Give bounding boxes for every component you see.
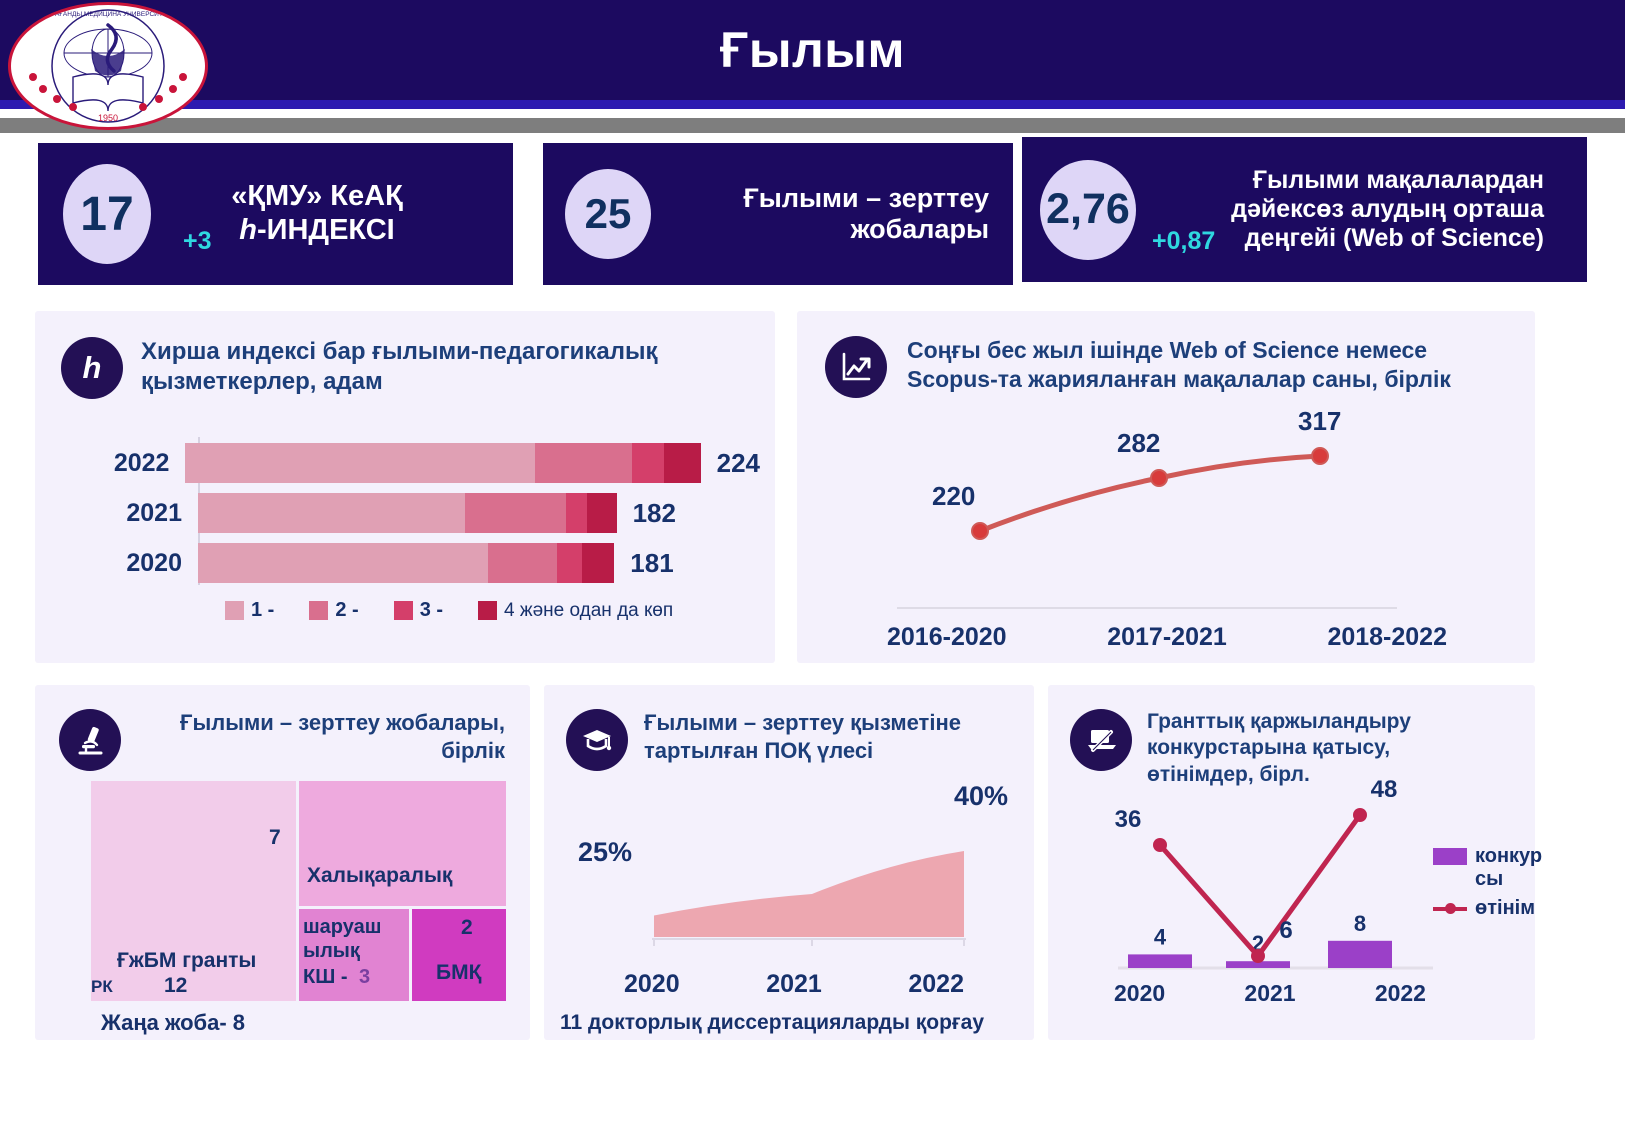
legend-label: 1 -	[251, 599, 274, 622]
treemap-label-gzbm: ҒжБМ гранты	[117, 949, 256, 973]
bar-segment	[582, 543, 614, 583]
graduation-cap-icon	[566, 709, 628, 771]
bar-track	[198, 543, 614, 583]
treemap-label-economic-2: ылық	[303, 940, 360, 963]
kpi-label-h-index: «ҚМУ» КеАҚ h-ИНДЕКСІ	[167, 180, 467, 247]
panel-grant-competitions: Гранттық қаржыландыру конкурстарына қаты…	[1048, 685, 1535, 1040]
legend-label: 3 -	[420, 599, 443, 622]
svg-text:ҚАРАҒАНДЫ МЕДИЦИНА УНИВЕРСИТЕТ: ҚАРАҒАНДЫ МЕДИЦИНА УНИВЕРСИТЕТІ	[43, 11, 173, 18]
legend-swatch-line	[1433, 907, 1467, 911]
combo-bar	[1328, 941, 1392, 968]
legend-item: 4 және одан да көп	[478, 600, 673, 622]
panel-title-research-projects: Ғылыми – зерттеу жобалары, бірлік	[137, 709, 505, 764]
bar-segment	[587, 493, 617, 533]
panel-research-projects: Ғылыми – зерттеу жобалары, бірлік ҒжБМ г…	[35, 685, 530, 1040]
legend-item: 3 -	[394, 599, 443, 622]
line-chart-x-labels: 2016-20202017-20212018-2022	[887, 623, 1447, 652]
panel-header: Ғылыми – зерттеу жобалары, бірлік	[35, 685, 530, 771]
bar-track	[198, 493, 617, 533]
legend-swatch	[394, 601, 413, 620]
bar-segment	[465, 493, 566, 533]
kpi-delta-citations: +0,87	[1152, 227, 1215, 256]
line-chart-axis	[897, 607, 1397, 609]
legend-item-applications: өтінім	[1433, 897, 1533, 920]
treemap-value-economic: 3	[359, 966, 370, 989]
kpi-h-symbol: h	[239, 214, 257, 246]
kpi-value-citations: 2,76	[1040, 160, 1136, 260]
kpi-delta-h-index: +3	[183, 227, 212, 256]
h-icon: h	[61, 337, 123, 399]
treemap-chart: ҒжБМ грантыРК127ХалықаралықшаруашылықКШ …	[91, 781, 506, 1001]
x-axis-label: 2016-2020	[887, 623, 1007, 652]
line-marker	[972, 523, 988, 539]
slide-root: Ғылым 1950 ҚАРАҒАНДЫ МЕДИЦИНА УНИВЕРСИТЕ…	[0, 0, 1625, 1125]
area-path	[654, 851, 964, 937]
bar-chart: 202222420211822020181	[110, 439, 760, 589]
bar-year-label: 2022	[110, 449, 185, 478]
kpi-label-line1: «ҚМУ» КеАҚ	[167, 180, 467, 214]
bar-total-label: 224	[717, 448, 760, 479]
area-end-label: 40%	[954, 781, 1008, 812]
panel-title-h-index-staff: Хирша индексі бар ғылыми-педагогикалық қ…	[141, 337, 701, 397]
line-point-label: 282	[1117, 428, 1160, 458]
legend-item: 2 -	[309, 599, 358, 622]
x-axis-label: 2021	[1244, 980, 1295, 1007]
combo-bar-label: 4	[1154, 924, 1167, 949]
legend-swatch-bar	[1433, 848, 1467, 865]
treemap-value-international: 7	[269, 826, 281, 850]
combo-bar	[1128, 954, 1192, 968]
combo-line-marker	[1353, 808, 1367, 822]
treemap-caption: Жаңа жоба- 8	[101, 1010, 245, 1036]
line-marker	[1151, 470, 1167, 486]
treemap-cell[interactable]	[412, 909, 506, 1001]
x-axis-label: 2020	[1114, 980, 1165, 1007]
kpi-label-line2: h-ИНДЕКСІ	[167, 214, 467, 248]
panel-header: Соңғы бес жыл ішінде Web of Science неме…	[797, 311, 1535, 398]
panel-title-grant-competitions: Гранттық қаржыландыру конкурстарына қаты…	[1147, 709, 1477, 788]
combo-bar-label: 8	[1354, 911, 1366, 936]
bar-total-label: 181	[630, 548, 673, 579]
panel-title-staff-share: Ғылыми – зерттеу қызметіне тартылған ПОҚ…	[644, 709, 1014, 764]
combo-line-label: 36	[1115, 806, 1142, 833]
panel-header: h Хирша индексі бар ғылыми-педагогикалық…	[35, 311, 775, 399]
svg-text:1950: 1950	[98, 113, 118, 123]
area-chart	[544, 785, 1034, 975]
line-point-label: 317	[1298, 406, 1341, 436]
kpi-card-h-index[interactable]: 17 «ҚМУ» КеАҚ h-ИНДЕКСІ +3	[38, 143, 513, 285]
laptop-pen-icon	[1070, 709, 1132, 771]
kpi-card-projects[interactable]: 25 Ғылыми – зерттеу жобалары	[543, 143, 1013, 285]
treemap-label-economic-1: шаруаш	[303, 916, 381, 939]
header-accent-rule	[0, 100, 1625, 109]
treemap-label-international: Халықаралық	[307, 864, 452, 888]
legend-swatch	[478, 601, 497, 620]
microscope-icon	[59, 709, 121, 771]
line-path	[980, 456, 1320, 531]
x-axis-label: 2022	[1375, 980, 1426, 1007]
area-start-label: 25%	[578, 837, 632, 868]
panel-header: Гранттық қаржыландыру конкурстарына қаты…	[1048, 685, 1535, 788]
kpi-card-citations[interactable]: 2,76 Ғылыми мақалалардан дәйексөз алудың…	[1022, 137, 1587, 282]
panel-header: Ғылыми – зерттеу қызметіне тартылған ПОҚ…	[544, 685, 1034, 771]
treemap-value-gzbm: 12	[164, 974, 187, 998]
panel-staff-share: Ғылыми – зерттеу қызметіне тартылған ПОҚ…	[544, 685, 1034, 1040]
legend-swatch	[309, 601, 328, 620]
treemap-label-bmq: БМҚ	[436, 961, 481, 985]
x-axis-label: 2020	[624, 970, 680, 999]
x-axis-label: 2017-2021	[1107, 623, 1227, 652]
combo-chart-x-labels: 202020212022	[1114, 980, 1426, 1007]
x-axis-label: 2018-2022	[1327, 623, 1447, 652]
legend-label-applications: өтінім	[1475, 897, 1535, 920]
chart-up-icon	[825, 336, 887, 398]
legend-item-competitions: конкур	[1433, 845, 1533, 868]
bar-segment	[198, 493, 465, 533]
combo-line-marker	[1251, 949, 1265, 963]
legend-label: 4 және одан да көп	[504, 600, 673, 622]
legend-label: 2 -	[335, 599, 358, 622]
kpi-index-word: -ИНДЕКСІ	[257, 214, 395, 246]
combo-line-label: 48	[1371, 780, 1398, 803]
legend-label-competitions: конкур	[1475, 845, 1542, 868]
bar-segment	[488, 543, 557, 583]
x-axis-label: 2022	[908, 970, 964, 999]
combo-chart-legend: конкур сы өтінім	[1433, 845, 1533, 920]
bar-segment	[557, 543, 582, 583]
bar-segment	[566, 493, 587, 533]
bar-row: 2021182	[110, 489, 760, 537]
panel-publications: Соңғы бес жыл ішінде Web of Science неме…	[797, 311, 1535, 663]
treemap-label-ksh: КШ -	[303, 966, 348, 989]
line-chart: 220282317	[797, 406, 1535, 606]
panel-title-publications: Соңғы бес жыл ішінде Web of Science неме…	[907, 336, 1497, 394]
bar-segment	[185, 443, 535, 483]
treemap-label-rk: РК	[91, 977, 113, 997]
bar-year-label: 2020	[110, 549, 198, 578]
legend-label-competitions-wrap: сы	[1475, 868, 1533, 891]
combo-line-label: 6	[1279, 917, 1292, 944]
bar-segment	[535, 443, 632, 483]
bar-row: 2022224	[110, 439, 760, 487]
kpi-value-h-index: 17	[63, 164, 151, 264]
bar-track	[185, 443, 700, 483]
bar-segment	[198, 543, 488, 583]
gray-divider-bar	[0, 118, 1625, 133]
line-marker	[1312, 448, 1328, 464]
line-point-label: 220	[932, 481, 975, 511]
page-title: Ғылым	[0, 0, 1625, 100]
university-logo: 1950 ҚАРАҒАНДЫ МЕДИЦИНА УНИВЕРСИТЕТІ	[8, 2, 208, 130]
bar-chart-legend: 1 -2 -3 -4 және одан да көп	[225, 599, 699, 622]
area-chart-caption: 11 докторлық диссертацияларды қорғау	[560, 1011, 984, 1035]
combo-line-marker	[1153, 838, 1167, 852]
x-axis-label: 2021	[766, 970, 822, 999]
bar-year-label: 2021	[110, 499, 198, 528]
legend-swatch	[225, 601, 244, 620]
legend-item: 1 -	[225, 599, 274, 622]
bar-row: 2020181	[110, 539, 760, 587]
panel-h-index-staff: h Хирша индексі бар ғылыми-педагогикалық…	[35, 311, 775, 663]
area-chart-x-labels: 202020212022	[624, 970, 964, 999]
bar-segment	[664, 443, 701, 483]
treemap-value-bmq: 2	[461, 916, 473, 940]
kpi-label-projects: Ғылыми – зерттеу жобалары	[671, 183, 989, 246]
kpi-value-projects: 25	[565, 169, 651, 259]
bar-segment	[632, 443, 664, 483]
bar-total-label: 182	[633, 498, 676, 529]
